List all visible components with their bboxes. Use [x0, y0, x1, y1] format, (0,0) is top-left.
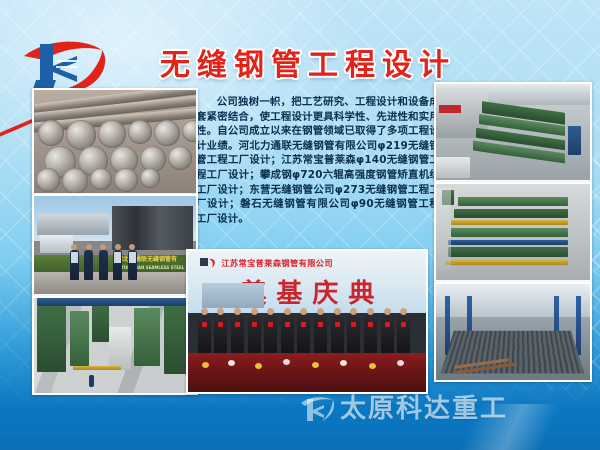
gate-sign-text-en: LITONGLIAN SEAMLESS STEEL TUBE — [115, 264, 190, 271]
photo-warehouse: 钢管成品库 — [434, 282, 592, 382]
gate-sign: 河北力通联无缝钢管有 LITONGLIAN SEAMLESS STEEL TUB… — [115, 255, 190, 271]
poster-canvas: 无缝钢管工程设计 公司独树一帜，把工艺研究、工程设计和设备成套紧密结合，使工程设… — [0, 0, 600, 450]
photo-rolling-mill: 轧管生产线车间 — [32, 296, 198, 395]
company-logo — [22, 36, 108, 94]
bottom-bar-shine — [420, 404, 600, 450]
ceremony-banner-company: 江苏常宝普莱森钢管有限公司 — [221, 257, 333, 269]
ceremony-banner-logo-icon — [200, 255, 217, 268]
ceremony-flowers — [188, 353, 426, 392]
gate-sign-text-cn: 河北力通联无缝钢管有 — [115, 255, 190, 264]
photo-green-line: 钢管矫直机组生产线 — [434, 182, 592, 282]
kd-logo-icon — [22, 36, 108, 94]
ceremony-banner: 江苏常宝普莱森钢管有限公司 奠基庆典 — [188, 251, 426, 313]
body-paragraph: 公司独树一帜，把工艺研究、工程设计和设备成套紧密结合，使工程设计更具科学性、先进… — [196, 95, 440, 226]
bottom-bar — [0, 404, 600, 450]
photo-factory-gate: 河北力通联无缝钢管有 LITONGLIAN SEAMLESS STEEL TUB… — [32, 194, 198, 296]
photo-assembly-shop: 设备装配车间 — [434, 82, 592, 182]
ceremony-crowd — [188, 307, 426, 355]
photo-ceremony: 江苏常宝普莱森钢管有限公司 奠基庆典 — [186, 249, 428, 394]
photo-steel-pipes: 堆放的无缝钢管 — [32, 88, 198, 195]
body-copy: 公司独树一帜，把工艺研究、工程设计和设备成套紧密结合，使工程设计更具科学性、先进… — [196, 95, 440, 226]
